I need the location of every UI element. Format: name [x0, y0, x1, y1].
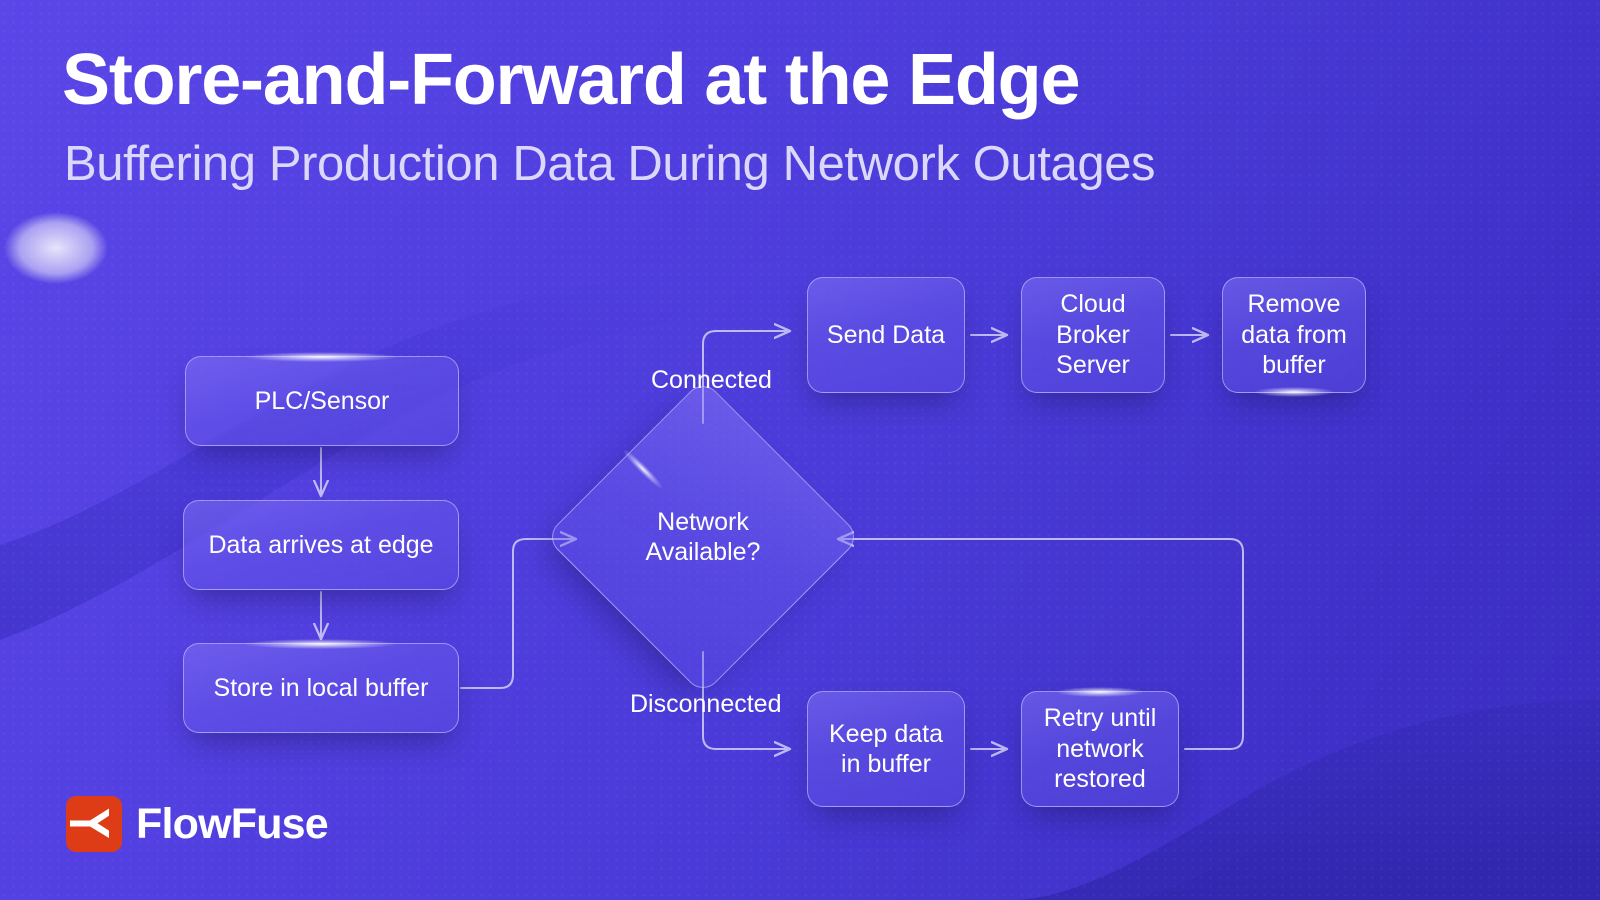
infographic-canvas: Store-and-Forward at the Edge Buffering …: [0, 0, 1600, 900]
node-label: CloudBrokerServer: [1056, 289, 1130, 381]
node-label: Data arrives at edge: [208, 530, 433, 561]
node-data-arrives-at-edge[interactable]: Data arrives at edge: [183, 500, 459, 590]
flowfuse-logo-icon: [66, 796, 122, 852]
node-label: Send Data: [827, 320, 945, 351]
node-keep-data-in-buffer[interactable]: Keep datain buffer: [807, 691, 965, 807]
edge-label-connected: Connected: [645, 366, 778, 395]
node-label: Store in local buffer: [214, 673, 429, 704]
node-retry-until-network-restored[interactable]: Retry untilnetworkrestored: [1021, 691, 1179, 807]
node-remove-data-from-buffer[interactable]: Removedata frombuffer: [1222, 277, 1366, 393]
node-store-in-local-buffer[interactable]: Store in local buffer: [183, 643, 459, 733]
edge-store-to-decision: [461, 539, 576, 688]
node-label: PLC/Sensor: [255, 386, 390, 417]
node-label: Removedata frombuffer: [1241, 289, 1347, 381]
brand-name: FlowFuse: [136, 803, 328, 846]
node-network-available-decision[interactable]: NetworkAvailable?: [591, 425, 815, 649]
edge-label-disconnected: Disconnected: [624, 690, 787, 719]
brand-logo[interactable]: FlowFuse: [66, 796, 328, 852]
node-plc-sensor[interactable]: PLC/Sensor: [185, 356, 459, 446]
node-label: Keep datain buffer: [829, 719, 943, 780]
node-label: NetworkAvailable?: [646, 507, 761, 568]
node-send-data[interactable]: Send Data: [807, 277, 965, 393]
node-label: Retry untilnetworkrestored: [1044, 703, 1157, 795]
node-cloud-broker-server[interactable]: CloudBrokerServer: [1021, 277, 1165, 393]
